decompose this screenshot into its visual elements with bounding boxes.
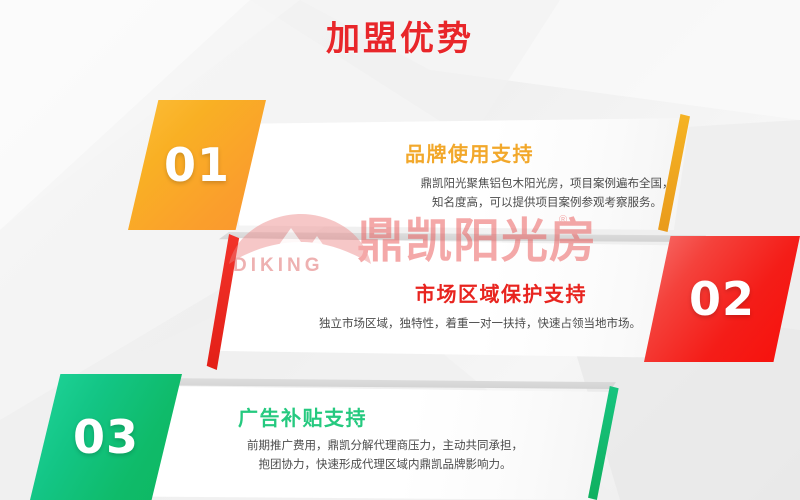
advantage-row-01: 01 品牌使用支持 鼎凯阳光聚焦铝包木阳光房，项目案例遍布全国， 知名度高，可以… <box>110 100 690 235</box>
advantage-heading-01: 品牌使用支持 <box>405 138 534 167</box>
advantage-body-line: 抱团协力，快速形成代理区域内鼎凯品牌影响力。 <box>220 455 550 474</box>
advantage-body-line: 鼎凯阳光聚焦铝包木阳光房，项目案例遍布全国， <box>392 174 702 193</box>
advantage-heading-02: 市场区域保护支持 <box>415 278 587 307</box>
advantage-row-03: 03 广告补贴支持 前期推广费用，鼎凯分解代理商压力，主动共同承担， 抱团协力，… <box>30 368 660 500</box>
advantage-body-02: 独立市场区域，独特性，着重一对一扶持，快速占领当地市场。 <box>270 314 690 333</box>
advantage-body-line: 知名度高，可以提供项目案例参观考察服务。 <box>392 193 702 212</box>
advantage-body-line: 独立市场区域，独特性，着重一对一扶持，快速占领当地市场。 <box>270 314 690 333</box>
page-title: 加盟优势 <box>0 16 800 62</box>
poster-canvas: 加盟优势 01 品牌使用支持 鼎凯阳光聚焦铝包木阳光房，项目案例遍布全国， 知名… <box>0 0 800 500</box>
advantage-body-01: 鼎凯阳光聚焦铝包木阳光房，项目案例遍布全国， 知名度高，可以提供项目案例参观考察… <box>392 174 702 212</box>
advantage-row-02: 02 市场区域保护支持 独立市场区域，独特性，着重一对一扶持，快速占领当地市场。 <box>110 232 800 372</box>
advantage-heading-03: 广告补贴支持 <box>238 402 367 431</box>
advantage-number-block-02: 02 <box>644 236 800 362</box>
advantage-body-line: 前期推广费用，鼎凯分解代理商压力，主动共同承担， <box>220 436 550 455</box>
advantage-number-02: 02 <box>644 236 800 362</box>
advantage-body-03: 前期推广费用，鼎凯分解代理商压力，主动共同承担， 抱团协力，快速形成代理区域内鼎… <box>220 436 550 474</box>
